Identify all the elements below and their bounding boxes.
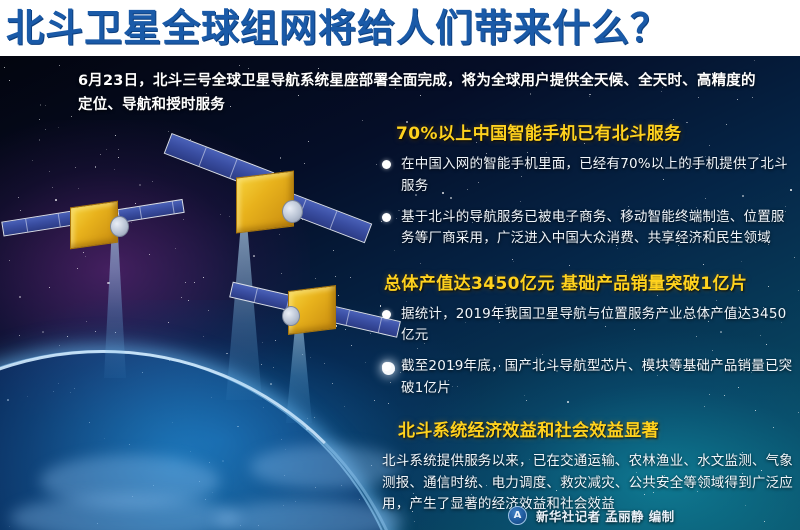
intro-paragraph: 6月23日，北斗三号全球卫星导航系统星座部署全面完成，将为全球用户提供全天候、全… [78,70,768,118]
star [100,154,101,155]
bullet-dot-icon [382,160,391,169]
satellite-top [170,148,370,248]
page-title: 北斗卫星全球组网将给人们带来什么？ [0,9,669,47]
list-item: 据统计，2019年我国卫星导航与位置服务产业总体产值达3450亿元 [370,304,794,347]
list-item-text: 基于北斗的导航服务已被电子商务、移动智能终端制造、位置服务等厂商采用，广泛进入中… [401,207,794,250]
star [270,383,272,385]
star [798,412,799,413]
list-item-text: 截至2019年底，国产北斗导航型芯片、模块等基础产品销量已突破1亿片 [401,356,794,399]
star [19,335,20,336]
star [58,127,59,128]
star [39,139,41,141]
star [59,65,60,66]
star [49,287,50,288]
star [49,171,51,173]
star [333,250,334,251]
list-item: 在中国入网的智能手机里面，已经有70%以上的手机提供了北斗服务 [370,154,794,197]
section-heading-2: 总体产值达3450亿元 基础产品销量突破1亿片 [384,274,794,295]
credit-text: 新华社记者 孟丽静 编制 [536,506,675,525]
star [139,184,141,186]
star [32,160,33,161]
section-spacer [370,260,794,274]
xinhua-logo-icon [508,506,527,525]
antenna-dish [282,200,303,223]
section-heading-3: 北斗系统经济效益和社会效益显著 [398,421,794,442]
star [308,141,309,142]
bullet-dot-icon [382,310,391,319]
star [203,336,204,337]
list-item: 基于北斗的导航服务已被电子商务、移动智能终端制造、位置服务等厂商采用，广泛进入中… [370,207,794,250]
star [248,68,249,69]
star [95,331,96,332]
star [118,149,119,150]
bullet-dot-icon [382,213,391,222]
antenna-dish [282,306,300,326]
section-spacer [370,409,794,421]
bullet-dot-icon [382,362,391,371]
star [253,255,255,257]
star [686,122,688,124]
star [239,65,240,66]
satellite-left [54,188,184,258]
star [194,282,195,283]
list-item-text: 在中国入网的智能手机里面，已经有70%以上的手机提供了北斗服务 [401,154,794,197]
antenna-dish [110,216,129,237]
star [42,331,44,333]
star [95,166,97,168]
infographic-poster: 北斗卫星全球组网将给人们带来什么？ 6月23日，北斗三号全球卫星导航系统星座部署… [0,0,800,530]
star [4,67,5,68]
footer-credit: 新华社记者 孟丽静 编制 [508,506,675,525]
star [332,383,333,384]
list-item: 截至2019年底，国产北斗导航型芯片、模块等基础产品销量已突破1亿片 [370,356,794,399]
star [168,131,169,132]
star [40,104,42,106]
section-2-bullets: 据统计，2019年我国卫星导航与位置服务产业总体产值达3450亿元 截至2019… [370,304,794,399]
section-1-bullets: 在中国入网的智能手机里面，已经有70%以上的手机提供了北斗服务 基于北斗的导航服… [370,154,794,249]
list-item-text: 据统计，2019年我国卫星导航与位置服务产业总体产值达3450亿元 [401,304,794,347]
star [226,353,228,355]
title-band: 北斗卫星全球组网将给人们带来什么？ [0,0,800,56]
content-column: 70%以上中国智能手机已有北斗服务 在中国入网的智能手机里面，已经有70%以上的… [370,124,794,515]
star [673,119,674,120]
section-heading-1: 70%以上中国智能手机已有北斗服务 [396,124,794,145]
